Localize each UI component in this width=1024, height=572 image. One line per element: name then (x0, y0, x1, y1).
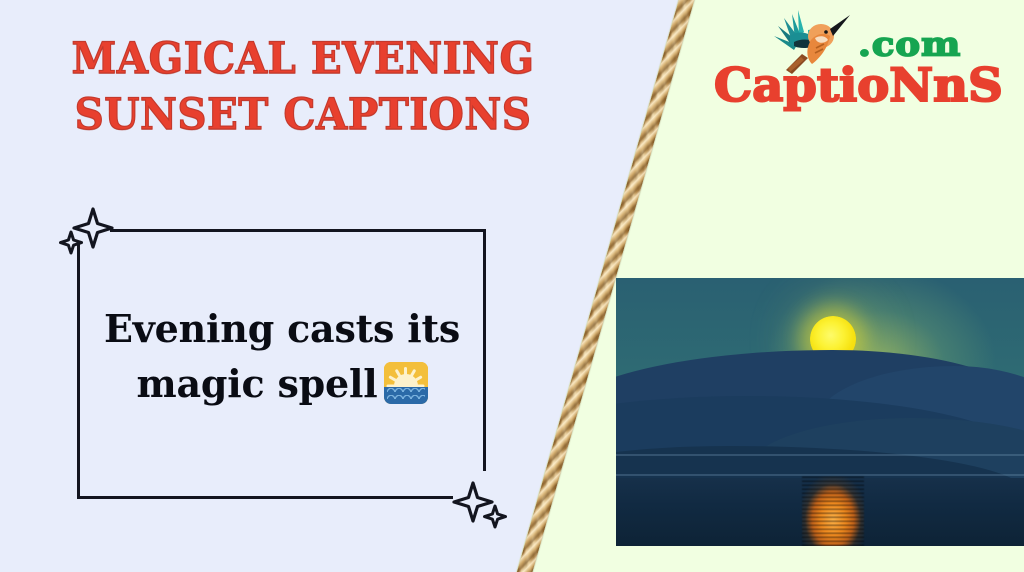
quote-text-line-2: magic spell (136, 361, 377, 406)
page-title: MAGICAL EVENING SUNSET CAPTIONS (63, 32, 542, 144)
frame-border-left (77, 243, 80, 499)
sunrise-emoji-wave (387, 395, 425, 399)
frame-border-bottom (77, 496, 453, 499)
sunset-photo (616, 278, 1024, 546)
page-title-line-1: MAGICAL EVENING (63, 32, 542, 88)
logo-tld: .com (858, 25, 961, 64)
sun-reflection (802, 476, 864, 546)
logo-brand-name: CaptioNnS (714, 59, 1003, 112)
poster-canvas: MAGICAL EVENING SUNSET CAPTIONS Evening … (0, 0, 1024, 572)
frame-border-right (483, 229, 486, 471)
hill-ridge-highlight (616, 454, 1024, 456)
quote-card: Evening casts its magic spell (77, 229, 486, 499)
quote-text: Evening casts its magic spell (101, 301, 463, 411)
sunrise-emoji (384, 362, 428, 404)
sparkle-icon-bottom-right (449, 473, 511, 535)
frame-border-top (110, 229, 486, 232)
sparkle-icon-top-left (55, 199, 117, 261)
site-logo[interactable]: .com CaptioNnS (712, 6, 1012, 126)
sunrise-emoji-wave (387, 388, 425, 392)
page-title-line-2: SUNSET CAPTIONS (63, 88, 542, 144)
quote-text-line-1: Evening casts its (104, 306, 460, 351)
